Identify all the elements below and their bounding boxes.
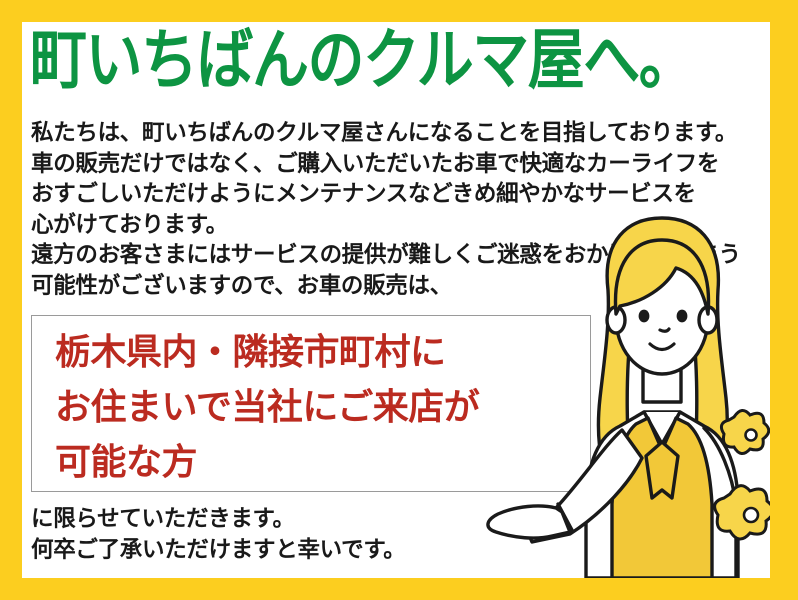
closing-paragraph: に限らせていただきます。 何卒ご了承いただけますと幸いです。 (31, 503, 405, 565)
eligibility-text: 栃木県内・隣接市町村に お住まいで当社にご来店が 可能な方 (55, 324, 479, 489)
page-title: 町いちばんのクルマ屋へ。 (30, 28, 766, 94)
body-line-3: おすごしいただけようにメンテナンスなどきめ細やかなサービスを (31, 179, 766, 210)
body-line-1: 私たちは、町いちばんのクルマ屋さんになることを目指しております。 (31, 118, 766, 149)
eligibility-line-2: お住まいで当社にご来店が (55, 379, 479, 434)
eye-left (639, 310, 650, 323)
smiling-woman-presenting-illustration (470, 212, 770, 578)
eligibility-line-3: 可能な方 (55, 434, 479, 489)
white-content-panel: 町いちばんのクルマ屋へ。 私たちは、町いちばんのクルマ屋さんになることを目指して… (22, 22, 770, 578)
body-line-2: 車の販売だけではなく、ご購入いただいたお車で快適なカーライフを (31, 149, 766, 180)
eligibility-line-1: 栃木県内・隣接市町村に (55, 324, 479, 379)
promo-banner: 町いちばんのクルマ屋へ。 私たちは、町いちばんのクルマ屋さんになることを目指して… (0, 0, 798, 600)
eye-right (677, 310, 688, 323)
closing-line-2: 何卒ご了承いただけますと幸いです。 (31, 534, 405, 565)
closing-line-1: に限らせていただきます。 (31, 503, 405, 534)
